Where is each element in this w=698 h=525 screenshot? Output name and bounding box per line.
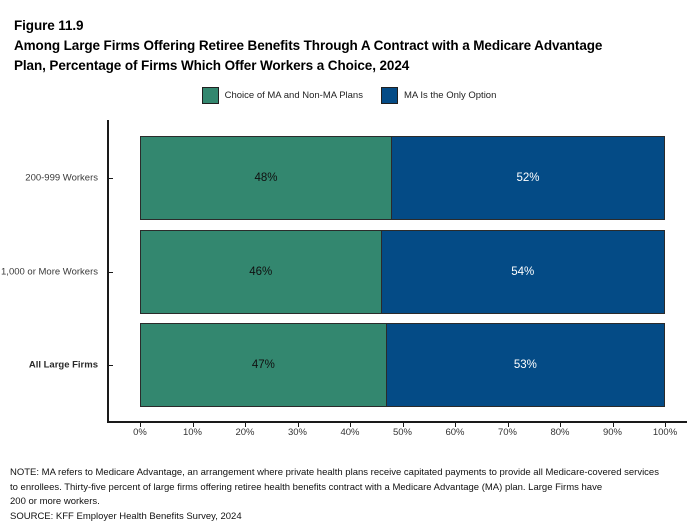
footnote-note-line-2: to enrollees. Thirty-five percent of lar…	[10, 481, 690, 496]
bar-value-label: 53%	[514, 359, 537, 371]
bar-row: 47%53%	[140, 323, 665, 407]
x-axis-tick-label: 60%	[445, 427, 464, 438]
x-axis-line	[107, 421, 687, 423]
bar-segment[interactable]: 46%	[140, 230, 382, 314]
footnote-source: SOURCE: KFF Employer Health Benefits Sur…	[10, 510, 690, 525]
y-axis-tick-mark	[108, 272, 113, 273]
bar-row: 46%54%	[140, 230, 665, 314]
bar-segment[interactable]: 54%	[382, 230, 666, 314]
bar-value-label: 54%	[511, 266, 534, 278]
x-axis-tick-label: 20%	[235, 427, 254, 438]
bar-row: 48%52%	[140, 136, 665, 220]
footnote-note-line-3: 200 or more workers.	[10, 495, 690, 510]
chart-plot-area: 48%52%46%54%47%53% 0%10%20%30%40%50%60%7…	[0, 0, 698, 440]
bar-segment[interactable]: 47%	[140, 323, 387, 407]
x-axis-tick-label: 40%	[340, 427, 359, 438]
footnote-note-line-1: NOTE: MA refers to Medicare Advantage, a…	[10, 466, 690, 481]
y-axis-category-label: All Large Firms	[29, 360, 98, 371]
y-axis-category-label: 200-999 Workers	[25, 173, 98, 184]
x-axis-tick-label: 30%	[288, 427, 307, 438]
bar-segment[interactable]: 53%	[387, 323, 665, 407]
bar-segment[interactable]: 52%	[392, 136, 665, 220]
x-axis-tick-label: 100%	[653, 427, 677, 438]
y-axis-category-label: 1,000 or More Workers	[1, 266, 98, 277]
y-axis-tick-mark	[108, 365, 113, 366]
y-axis-tick-mark	[108, 178, 113, 179]
bar-value-label: 48%	[254, 172, 277, 184]
x-axis-tick-label: 50%	[393, 427, 412, 438]
x-axis-tick-label: 70%	[498, 427, 517, 438]
bar-segment[interactable]: 48%	[140, 136, 392, 220]
x-axis-tick-label: 90%	[603, 427, 622, 438]
x-axis-tick-label: 0%	[133, 427, 147, 438]
bar-value-label: 52%	[516, 172, 539, 184]
bar-value-label: 47%	[252, 359, 275, 371]
bar-value-label: 46%	[249, 266, 272, 278]
x-axis-tick-label: 80%	[550, 427, 569, 438]
footnote-block: NOTE: MA refers to Medicare Advantage, a…	[10, 466, 690, 524]
x-axis-tick-label: 10%	[183, 427, 202, 438]
